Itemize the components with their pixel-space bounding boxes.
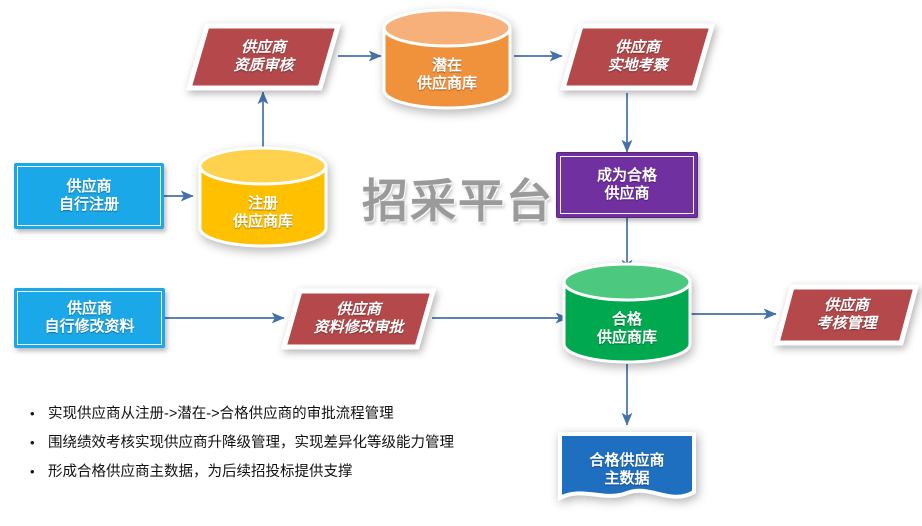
bullet-item: • 形成合格供应商主数据，为后续招投标提供支撑 — [18, 462, 578, 482]
rect-inner-border — [17, 291, 162, 345]
wave-document-body — [560, 434, 694, 498]
node-become-qualified-supplier[interactable]: 成为合格 供应商 — [556, 152, 698, 218]
node-supplier-self-register[interactable]: 供应商 自行注册 — [14, 163, 164, 229]
node-supplier-self-modify-data[interactable]: 供应商 自行修改资料 — [14, 288, 165, 348]
node-qualified-supplier-db[interactable]: 合格 供应商库 — [560, 260, 694, 366]
bullet-text: 围绕绩效考核实现供应商升降级管理，实现差异化等级能力管理 — [48, 433, 454, 453]
summary-bullet-list: • 实现供应商从注册->潜在->合格供应商的审批流程管理 • 围绕绩效考核实现供… — [18, 404, 578, 491]
bullet-item: • 围绕绩效考核实现供应商升降级管理，实现差异化等级能力管理 — [18, 433, 578, 453]
node-potential-supplier-db[interactable]: 潜在 供应商库 — [380, 6, 514, 112]
node-supplier-assessment-management[interactable]: 供应商 考核管理 — [774, 283, 919, 347]
node-registered-supplier-db[interactable]: 注册 供应商库 — [196, 144, 330, 250]
bullet-text: 实现供应商从注册->潜在->合格供应商的审批流程管理 — [48, 404, 394, 424]
cylinder-top — [200, 148, 326, 184]
node-supplier-qualification-audit[interactable]: 供应商 资质审核 — [186, 22, 341, 92]
rect-inner-border — [560, 156, 694, 214]
parallelogram-body — [189, 26, 338, 88]
rect-inner-border — [17, 166, 161, 226]
bullet-marker: • — [18, 433, 48, 453]
bullet-marker: • — [18, 404, 48, 424]
watermark-text: 招采平台 — [362, 165, 554, 231]
bullet-text: 形成合格供应商主数据，为后续招投标提供支撑 — [48, 462, 353, 482]
cylinder-top — [384, 10, 510, 46]
parallelogram-body — [284, 291, 433, 347]
flowchart-canvas: 招采平台 供应商 自行注册 注册 供应商库 供应商 资质审核 — [0, 0, 922, 514]
bullet-item: • 实现供应商从注册->潜在->合格供应商的审批流程管理 — [18, 404, 578, 424]
parallelogram-body — [777, 287, 916, 343]
node-supplier-data-change-approval[interactable]: 供应商 资料修改审批 — [281, 287, 436, 351]
node-supplier-onsite-inspection[interactable]: 供应商 实地考察 — [560, 22, 715, 92]
bullet-marker: • — [18, 462, 48, 482]
cylinder-top — [564, 264, 690, 300]
parallelogram-body — [563, 26, 712, 88]
